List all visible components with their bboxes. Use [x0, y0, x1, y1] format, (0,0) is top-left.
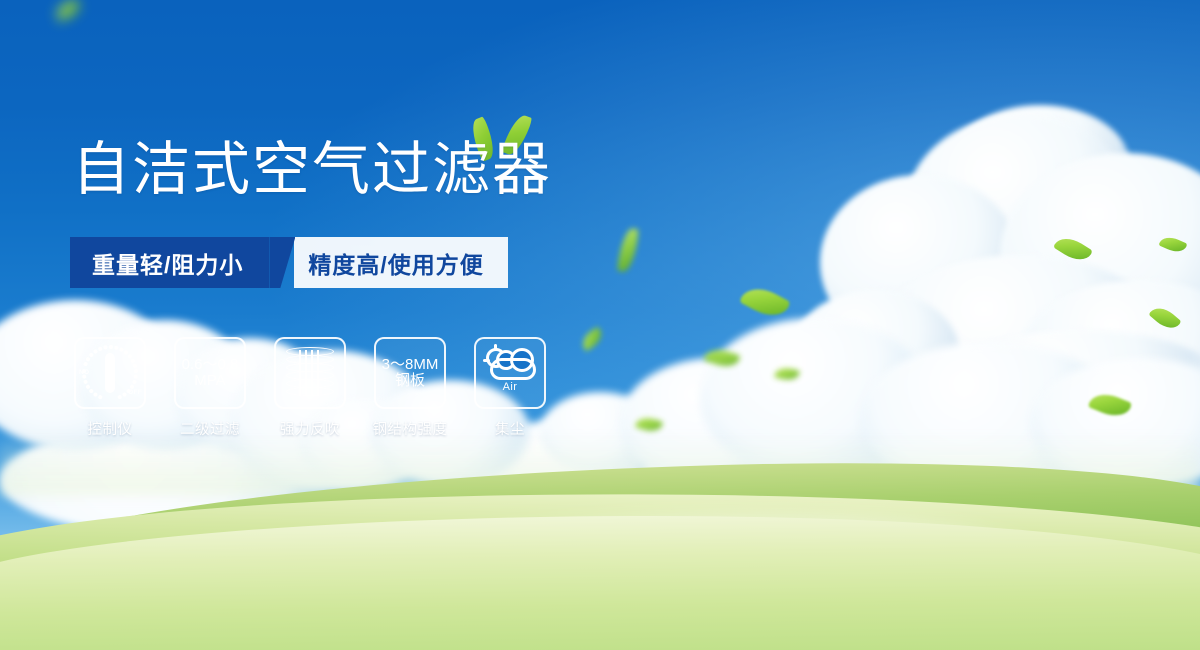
steel-text-icon: 3～8MM 钢板: [382, 357, 439, 389]
feature-icon-box: Air: [474, 337, 546, 409]
feature-item-two-stage-filter[interactable]: 0.6～0.8 MPA 二级过滤: [170, 337, 250, 439]
subtitle-left-text: 重量轻/阻力小: [70, 237, 269, 288]
feature-text-line2: 钢板: [382, 373, 439, 389]
subtitle-bar: 重量轻/阻力小 精度高/使用方便: [70, 237, 508, 288]
feature-icon-box: [274, 337, 346, 409]
gauge-label-on: NO: [79, 369, 89, 376]
feature-caption: 强力反吹: [280, 418, 340, 439]
feature-caption: 集尘: [495, 418, 525, 439]
feature-item-steel-strength[interactable]: 3～8MM 钢板 钢结构强度: [370, 337, 450, 439]
air-cloud-icon: Air: [482, 348, 538, 398]
feature-icon-box: 0.6～0.8 MPA: [174, 337, 246, 409]
subtitle-divider: [269, 237, 295, 288]
gauge-icon: NO OFF: [80, 344, 140, 402]
feature-item-dust-collection[interactable]: Air 集尘: [470, 337, 550, 439]
feature-item-controller[interactable]: NO OFF 控制仪: [70, 337, 150, 439]
feature-caption: 控制仪: [88, 418, 133, 439]
feature-icon-box: NO OFF: [74, 337, 146, 409]
feature-caption: 二级过滤: [180, 418, 240, 439]
gauge-label-off: OFF: [128, 389, 142, 396]
page-title: 自洁式空气过滤器: [72, 141, 552, 199]
filter-discs-icon: [286, 347, 334, 399]
feature-text-line1: 3～8MM: [382, 357, 439, 373]
feature-item-backflush[interactable]: 强力反吹: [270, 337, 350, 439]
subtitle-right-text: 精度高/使用方便: [294, 237, 507, 288]
pressure-text-icon: 0.6～0.8 MPA: [182, 357, 239, 389]
banner-content: 自洁式空气过滤器 重量轻/阻力小 精度高/使用方便: [0, 0, 1200, 650]
feature-text-line1: 0.6～0.8: [182, 357, 239, 373]
banner-stage: 自洁式空气过滤器 重量轻/阻力小 精度高/使用方便: [0, 0, 1200, 650]
feature-list: NO OFF 控制仪 0.6～0.8 MPA 二级过滤: [70, 337, 550, 439]
feature-icon-box: 3～8MM 钢板: [374, 337, 446, 409]
feature-caption: 钢结构强度: [373, 418, 448, 439]
feature-text-line2: MPA: [182, 373, 239, 389]
air-label: Air: [503, 381, 518, 393]
